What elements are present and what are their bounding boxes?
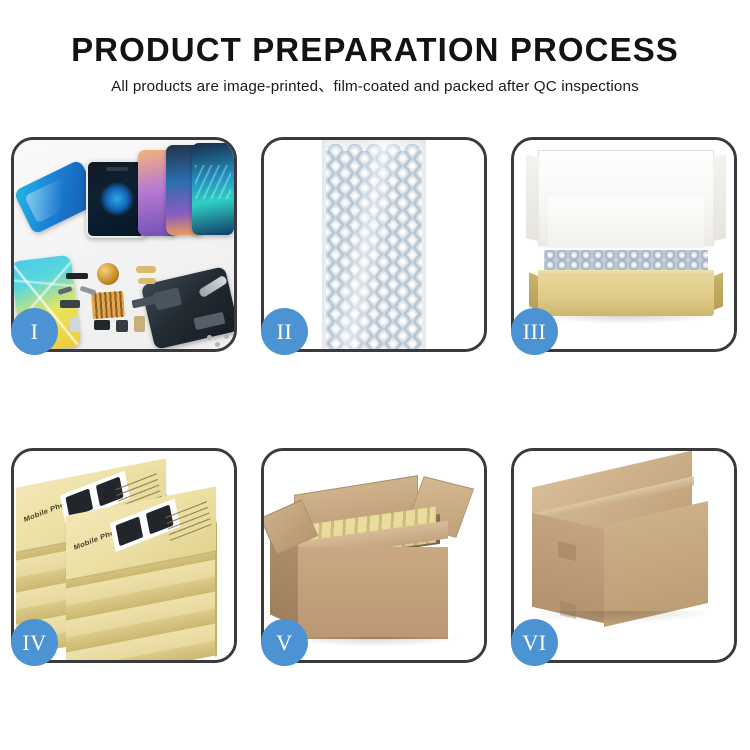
header: PRODUCT PREPARATION PROCESS All products… xyxy=(0,0,750,94)
process-step-panel-4: Mobile Phone Spare Parts Mobile Phone Sp… xyxy=(11,448,237,663)
part-icon xyxy=(136,266,156,273)
process-step-panel-2: II xyxy=(261,137,487,352)
plastic-sheen xyxy=(322,140,426,349)
step-badge-4: IV xyxy=(11,619,58,666)
cyan-phone-icon xyxy=(192,143,234,235)
part-icon xyxy=(94,320,110,330)
step-badge-2: II xyxy=(261,308,308,355)
screw-icon xyxy=(207,335,212,340)
page-subtitle: All products are image-printed、film-coat… xyxy=(0,79,750,94)
process-step-panel-5: V xyxy=(261,448,487,663)
step-badge-3: III xyxy=(511,308,558,355)
step-badge-5: V xyxy=(261,619,308,666)
part-icon xyxy=(80,286,97,296)
carton-shadow xyxy=(284,637,464,647)
carton-body xyxy=(298,547,448,639)
process-step-panel-6: VI xyxy=(511,448,737,663)
connector-grid-icon xyxy=(91,291,125,319)
foam-insert xyxy=(548,196,704,248)
box-shadow xyxy=(536,316,718,324)
process-step-panel-3: III xyxy=(511,137,737,352)
screw-icon xyxy=(215,342,220,347)
part-icon xyxy=(116,320,128,332)
part-icon xyxy=(70,318,80,332)
page-title: PRODUCT PREPARATION PROCESS xyxy=(0,33,750,66)
coil-part-icon xyxy=(97,263,119,285)
part-icon xyxy=(60,300,80,308)
process-steps-grid: I II III xyxy=(11,137,739,663)
part-icon xyxy=(66,273,88,279)
part-icon xyxy=(134,316,145,332)
part-icon xyxy=(138,278,156,284)
box-front-panel xyxy=(538,276,714,316)
carton-shadow xyxy=(530,611,712,623)
process-step-panel-1: I xyxy=(11,137,237,352)
screw-icon xyxy=(224,334,229,339)
step-badge-6: VI xyxy=(511,619,558,666)
step-badge-1: I xyxy=(11,308,58,355)
